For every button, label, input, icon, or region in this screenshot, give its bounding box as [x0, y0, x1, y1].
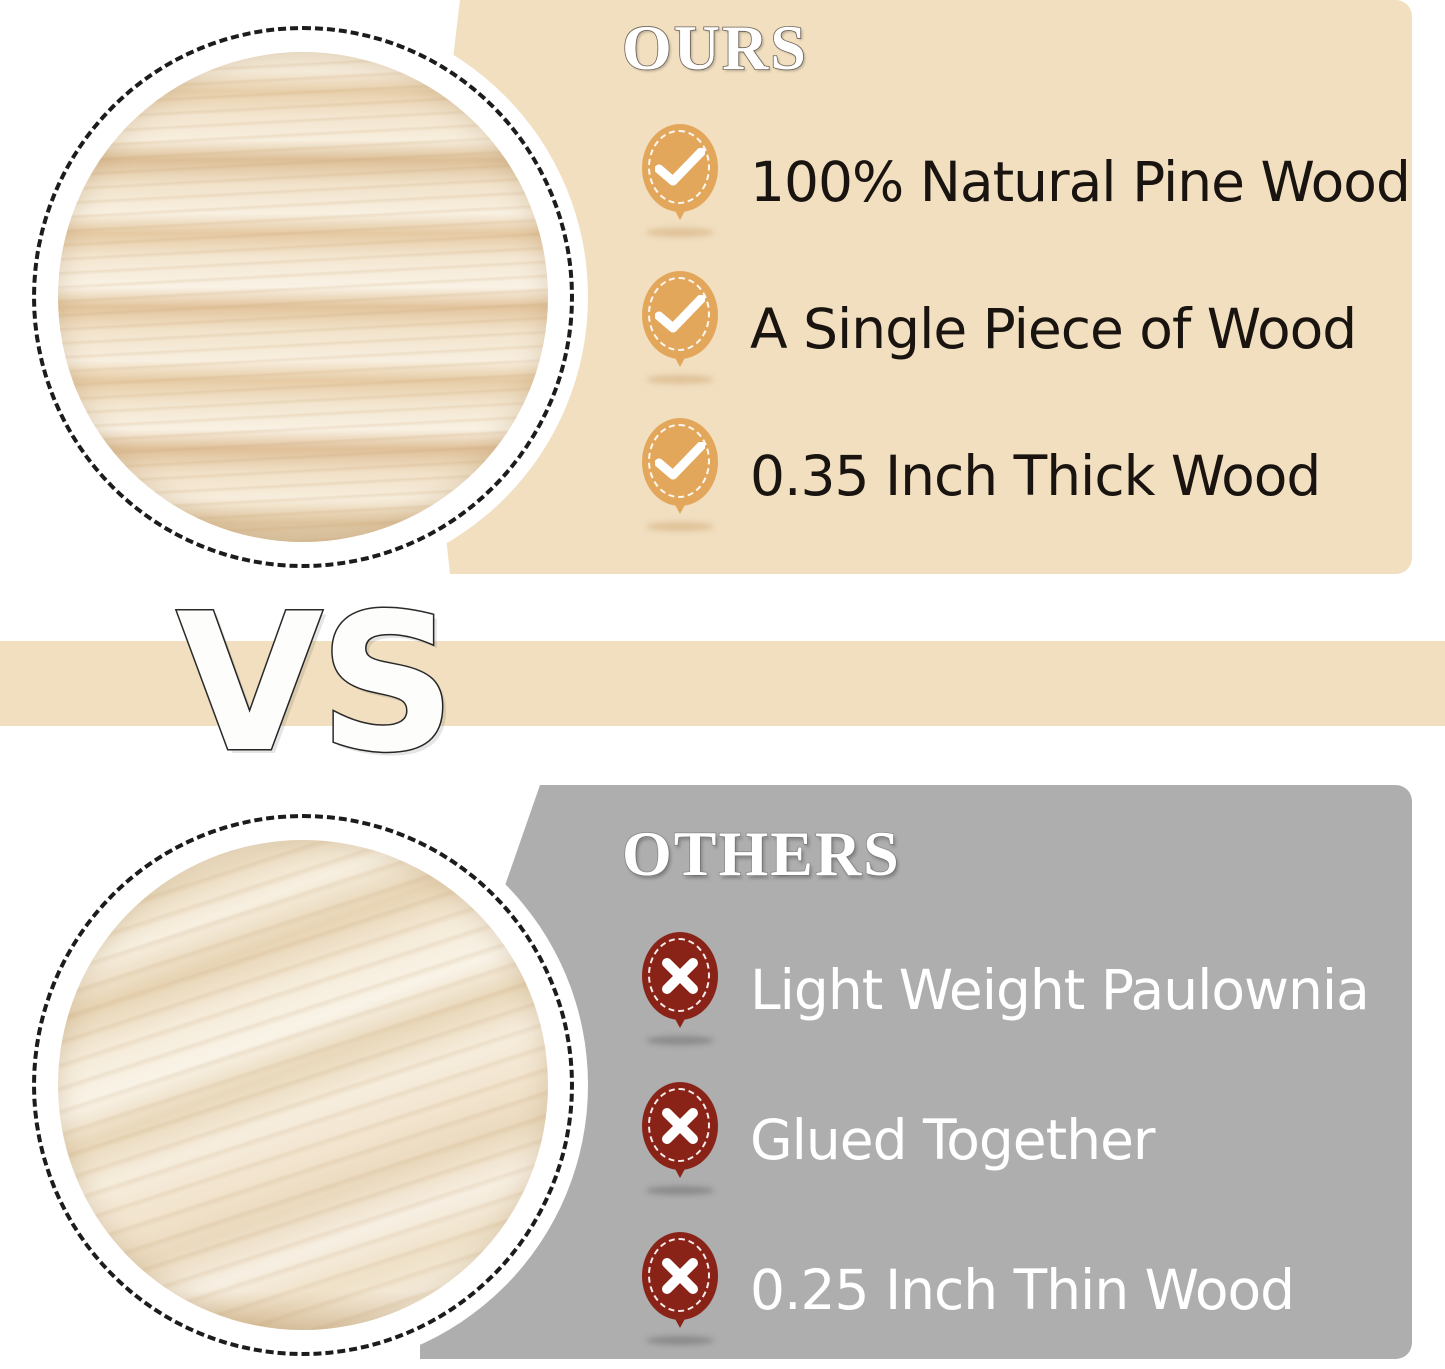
others-feature-row: Glued Together	[638, 1065, 1398, 1215]
ours-feature-row: 0.35 Inch Thick Wood	[638, 402, 1398, 549]
ours-feature-row: 100% Natural Pine Wood	[638, 108, 1398, 255]
ours-feature-label: 100% Natural Pine Wood	[750, 153, 1410, 211]
cross-icon	[638, 1232, 722, 1348]
others-feature-label: Light Weight Paulownia	[750, 961, 1369, 1019]
check-icon	[638, 418, 722, 534]
ours-title: OURS	[622, 16, 808, 80]
check-icon	[638, 124, 722, 240]
ours-feature-list: 100% Natural Pine Wood A Single Piece of…	[638, 108, 1398, 549]
pine-wood-disc	[58, 52, 548, 542]
others-feature-row: 0.25 Inch Thin Wood	[638, 1215, 1398, 1365]
others-feature-row: Light Weight Paulownia	[638, 915, 1398, 1065]
paulownia-wood-disc	[58, 840, 548, 1330]
cross-icon	[638, 1082, 722, 1198]
others-product-image	[18, 800, 588, 1369]
others-title: OTHERS	[622, 822, 901, 886]
check-icon	[638, 271, 722, 387]
vs-label: VS	[176, 596, 452, 771]
comparison-infographic: OURS 100% Natural Pine Wood	[0, 0, 1445, 1369]
others-feature-label: 0.25 Inch Thin Wood	[750, 1261, 1294, 1319]
ours-feature-label: A Single Piece of Wood	[750, 300, 1356, 358]
others-feature-list: Light Weight Paulownia Glued Together	[638, 915, 1398, 1365]
cross-icon	[638, 932, 722, 1048]
ours-feature-label: 0.35 Inch Thick Wood	[750, 447, 1320, 505]
ours-product-image	[18, 12, 588, 582]
others-feature-label: Glued Together	[750, 1111, 1155, 1169]
ours-feature-row: A Single Piece of Wood	[638, 255, 1398, 402]
